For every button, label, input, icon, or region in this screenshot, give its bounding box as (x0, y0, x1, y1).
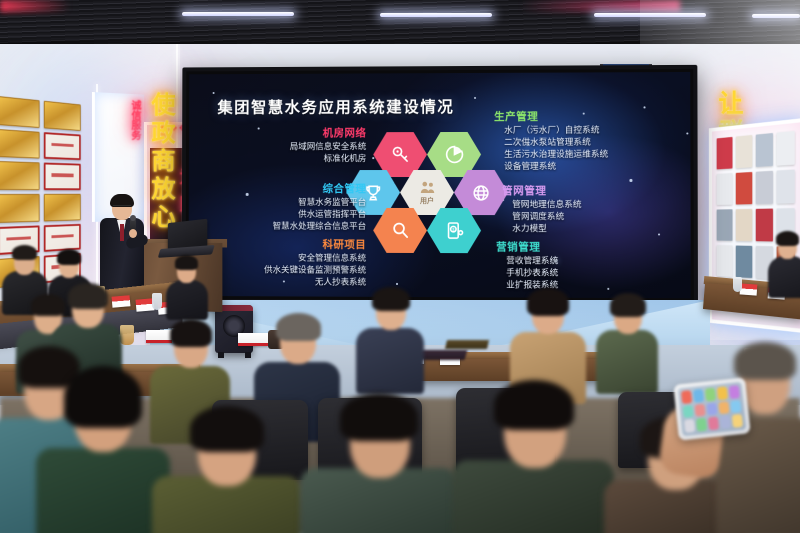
section-header: 机房网络 (236, 125, 366, 140)
section-line: 管网地理信息系统 (512, 199, 684, 211)
presenter-laptop (168, 219, 207, 251)
slide-section-jifang-wangluo: 机房网络 局域网信息安全系统 标准化机房 (236, 125, 366, 165)
pa-speaker-foot (245, 352, 251, 358)
hexagon-users-label: 用户 (420, 195, 434, 205)
notebook (419, 350, 468, 360)
presenter-glasses (113, 205, 131, 210)
smartphone-recording (673, 377, 750, 440)
name-card (740, 283, 758, 295)
audience-member (36, 374, 170, 533)
section-line: 手机抄表系统 (506, 267, 678, 280)
led-presentation-screen: 集团智慧水务应用系统建设情况 (182, 65, 698, 306)
water-glass (152, 293, 162, 310)
presenter-hand (129, 229, 137, 238)
slide-section-zonghe-guanli: 综合管理 智慧水务监管平台 供水运管指挥平台 智慧水处理综合信息平台 (202, 181, 366, 232)
audience-member (768, 232, 800, 294)
section-line: 业扩报装系统 (506, 279, 678, 292)
water-glass (733, 277, 742, 292)
section-line: 生活污水治理设施运维系统 (504, 148, 686, 160)
slide-section-guanwang-guanli: 管网管理 管网地理信息系统 管网调度系统 水力模型 (492, 183, 684, 235)
conference-room-photo: 诚信服务 为民 ❖❖❖ 使政商放心 让群众满意 (0, 0, 800, 533)
slide-canvas: 集团智慧水务应用系统建设情况 (188, 72, 690, 298)
section-line: 局域网信息安全系统 (236, 141, 366, 153)
audience-desk (394, 359, 624, 381)
section-line: 智慧水务监管平台 (202, 197, 366, 209)
pie-chart-icon (444, 144, 465, 165)
section-header: 营销管理 (496, 239, 678, 255)
presenter-tie (120, 224, 124, 241)
neon-sign-left-upper: 诚信服务 (103, 100, 139, 140)
section-line: 营收管理系统 (506, 255, 678, 268)
phone-screen (678, 382, 747, 436)
users-icon (419, 180, 436, 195)
ceiling-light-strip (182, 12, 294, 16)
mobile-pay-icon: $ (443, 220, 464, 241)
section-line: 设备管理系统 (504, 160, 686, 172)
section-line: 二次供水泵站管理系统 (504, 136, 686, 148)
audience-member (166, 256, 208, 316)
slide-title: 集团智慧水务应用系统建设情况 (217, 95, 454, 118)
ceiling-pink-glow (0, 0, 70, 12)
section-line: 水厂（污水厂）自控系统 (504, 124, 686, 136)
magnifier-icon (390, 220, 411, 241)
audience-member (300, 398, 458, 533)
section-line: 管网调度系统 (512, 211, 684, 223)
section-header: 生产管理 (494, 108, 686, 124)
section-header: 管网管理 (502, 183, 684, 198)
audience-member (152, 410, 302, 533)
section-line: 供水运管指挥平台 (202, 209, 366, 221)
ceiling-light-strip (380, 13, 492, 17)
section-line: 标准化机房 (236, 153, 366, 165)
section-line: 水力模型 (512, 223, 684, 235)
slide-section-shengchan-guanli: 生产管理 水厂（污水厂）自控系统 二次供水泵站管理系统 生活污水治理设施运维系统… (484, 108, 686, 172)
notebook (445, 340, 489, 349)
tea-mug (120, 325, 134, 345)
section-line: 智慧水处理综合信息平台 (202, 220, 366, 232)
audience-member (596, 296, 658, 392)
globe-icon (471, 182, 491, 202)
audience-member (452, 386, 614, 533)
key-icon (390, 144, 411, 165)
slide-section-yingxiao-guanli: 营销管理 营收管理系统 手机抄表系统 业扩报装系统 (486, 239, 678, 292)
audience-member (716, 346, 800, 533)
section-header: 综合管理 (203, 181, 367, 196)
audience-member (356, 290, 424, 392)
